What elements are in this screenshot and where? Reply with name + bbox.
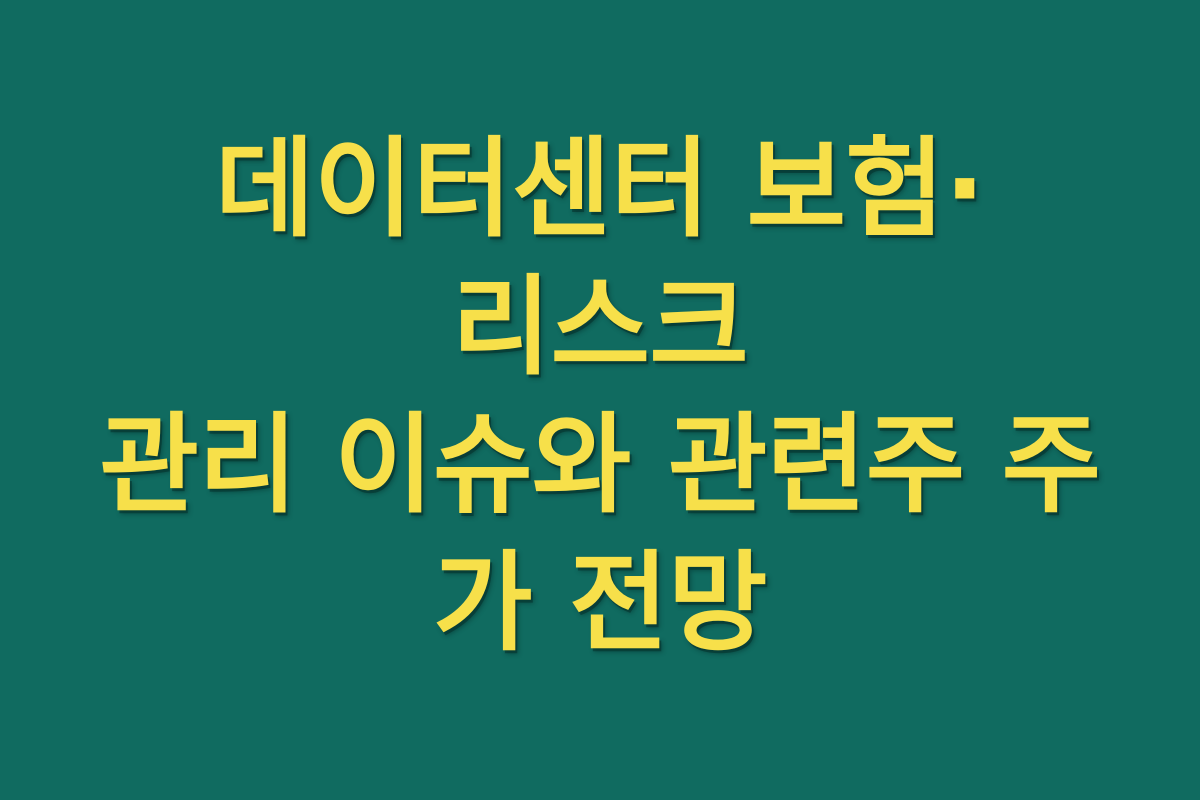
headline-line-1: 데이터센터 보험·리스크 bbox=[80, 121, 1120, 397]
headline-line-2: 관리 이슈와 관련주 주 bbox=[80, 397, 1120, 535]
headline-block: 데이터센터 보험·리스크 관리 이슈와 관련주 주 가 전망 bbox=[50, 121, 1150, 674]
title-thumbnail-card: 데이터센터 보험·리스크 관리 이슈와 관련주 주 가 전망 bbox=[0, 0, 1200, 800]
headline-line-3: 가 전망 bbox=[80, 535, 1120, 673]
page-title: 데이터센터 보험·리스크 관리 이슈와 관련주 주 가 전망 bbox=[80, 121, 1120, 674]
